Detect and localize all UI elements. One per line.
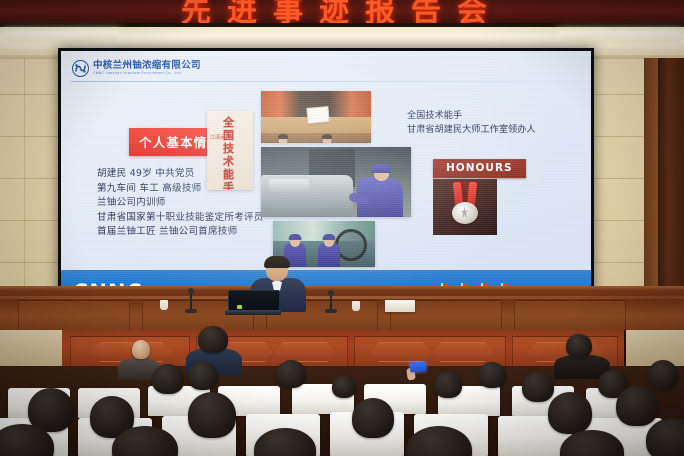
audience-head bbox=[188, 392, 236, 438]
logo-company-cn: 中核兰州铀浓缩有限公司 bbox=[93, 61, 201, 71]
water-cup bbox=[160, 300, 168, 310]
nameplate bbox=[385, 300, 415, 312]
microphone bbox=[330, 294, 332, 310]
projection-screen-frame: 中核兰州铀浓缩有限公司 CNNC Lanzhou Uranium Enrichm… bbox=[58, 48, 594, 319]
calligraphy-photo: 全 国 技 术 能 手 江泽民 bbox=[207, 111, 253, 190]
audience-head bbox=[132, 340, 150, 359]
audience-head bbox=[648, 360, 678, 390]
worker-figure bbox=[351, 163, 403, 217]
audience-head bbox=[352, 398, 394, 438]
award-ceremony-photo bbox=[261, 91, 371, 143]
venue-banner-text: 先进事迹报告会 bbox=[0, 0, 684, 24]
certificate-prop bbox=[306, 106, 329, 124]
audience-head bbox=[198, 326, 228, 353]
audience-head bbox=[548, 392, 592, 434]
wall-wood-column bbox=[658, 58, 684, 308]
audience-head bbox=[276, 360, 306, 388]
calligraphy-seal: 江泽民 bbox=[210, 135, 225, 141]
calligraphy-characters: 全 国 技 术 能 手 bbox=[223, 116, 234, 190]
audience-head bbox=[434, 372, 462, 398]
venue-banner: 先进事迹报告会 bbox=[0, 0, 684, 24]
projection-screen: 中核兰州铀浓缩有限公司 CNNC Lanzhou Uranium Enrichm… bbox=[61, 51, 591, 316]
audience-head bbox=[478, 362, 506, 388]
audience-head bbox=[522, 372, 554, 402]
right-label-2: 甘肃省胡建民大师工作室领办人 bbox=[407, 123, 536, 137]
audience-head bbox=[566, 334, 592, 358]
slide-header-rule bbox=[71, 81, 579, 82]
microphone bbox=[190, 292, 192, 310]
wall-light-patch-left bbox=[0, 330, 70, 370]
blue-smartphone bbox=[410, 361, 427, 372]
medal-photo bbox=[433, 179, 497, 235]
audience-head bbox=[152, 364, 184, 394]
audience-head bbox=[188, 362, 218, 390]
conference-hall-scene: 先进事迹报告会 bbox=[0, 0, 684, 456]
audience-head bbox=[332, 376, 356, 398]
slide-right-labels: 全国技术能手 甘肃省胡建民大师工作室领办人 bbox=[407, 109, 536, 137]
cnnc-logo-icon bbox=[72, 60, 89, 77]
workshop-lathe-photo bbox=[261, 147, 411, 217]
wall-wood-trim bbox=[644, 58, 658, 308]
right-label-1: 全国技术能手 bbox=[407, 109, 536, 123]
laptop bbox=[225, 290, 281, 316]
audience-head bbox=[616, 386, 658, 426]
microphone-base bbox=[185, 309, 197, 313]
honours-chip: HONOURS bbox=[433, 159, 526, 178]
water-cup bbox=[352, 301, 360, 311]
ceiling-light-left bbox=[6, 31, 118, 43]
ceiling-light-right bbox=[560, 31, 680, 43]
slide-company-logo: 中核兰州铀浓缩有限公司 CNNC Lanzhou Uranium Enrichm… bbox=[72, 60, 201, 77]
microphone-base bbox=[325, 309, 337, 313]
medal-disc-icon bbox=[452, 202, 478, 224]
logo-company-en: CNNC Lanzhou Uranium Enrichment Co., Ltd… bbox=[93, 72, 201, 76]
